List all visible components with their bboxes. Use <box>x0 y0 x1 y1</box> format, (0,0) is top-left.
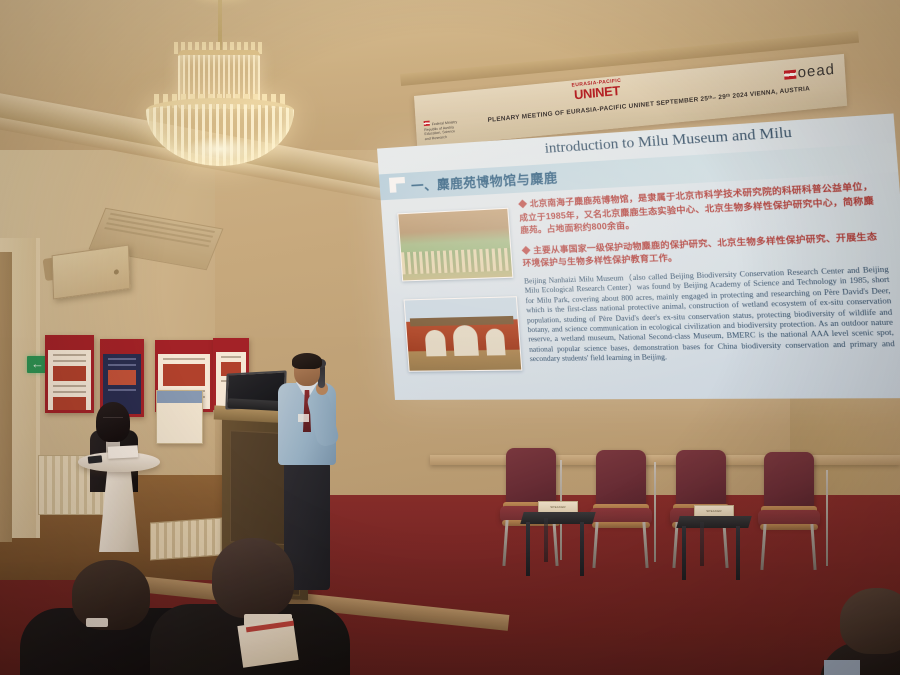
glasses-icon <box>103 417 123 423</box>
austria-flag-icon <box>424 121 430 127</box>
papers-on-table <box>108 445 139 459</box>
uninet-logo: EURASIA-PACIFIC UNINET <box>571 79 622 102</box>
audience-shoulder-right <box>824 660 860 675</box>
crystal-chandelier <box>140 0 300 174</box>
wall-poster-1 <box>45 335 94 413</box>
microphone-stand-2[interactable] <box>654 462 656 562</box>
side-table-2: SPEAKER <box>678 516 750 580</box>
chandelier-bowl <box>146 98 294 166</box>
projection-screen: introduction to Milu Museum and Milu 一、麋… <box>377 113 900 400</box>
slide-bullet-list: 北京南海子麋鹿苑博物馆，是隶属于北京市科学技术研究院的科研科普公益单位，成立于1… <box>518 180 886 278</box>
slide-bullet-2: 主要从事国家一级保护动物麋鹿的保护研究、北京生物多样性保护研究、开展生态环境保护… <box>521 230 885 271</box>
audience-member-center <box>150 538 350 675</box>
oead-stripes-icon <box>784 69 797 79</box>
presentation-slide: introduction to Milu Museum and Milu 一、麋… <box>377 113 900 400</box>
uninet-logo-main: UNINET <box>572 84 622 102</box>
speaker-badge <box>298 414 309 422</box>
audience-member-right <box>820 588 900 675</box>
ministry-line-4: and Research <box>425 135 448 141</box>
cocktail-table <box>78 452 160 550</box>
austrian-ministry-logo: Federal Ministry Republic of Austria Edu… <box>424 118 459 142</box>
wall-poster-5 <box>156 390 203 444</box>
museum-gate-photo <box>404 296 523 372</box>
door-panel[interactable] <box>0 252 12 542</box>
oead-wordmark: oead <box>797 61 835 82</box>
milu-deer-herd-photo <box>397 208 513 282</box>
oead-logo: oead <box>783 61 835 83</box>
side-table-1: SPEAKER <box>522 512 594 576</box>
phone-on-table <box>88 455 103 463</box>
slide-english-paragraph: Beijing Nanhaizi Milu Museum（also called… <box>524 265 896 365</box>
chair-2[interactable] <box>590 450 652 568</box>
chair-4[interactable] <box>758 452 820 570</box>
microphone-stand-3[interactable] <box>826 470 828 566</box>
conference-room-photo: Federal Ministry Republic of Austria Edu… <box>0 0 900 675</box>
